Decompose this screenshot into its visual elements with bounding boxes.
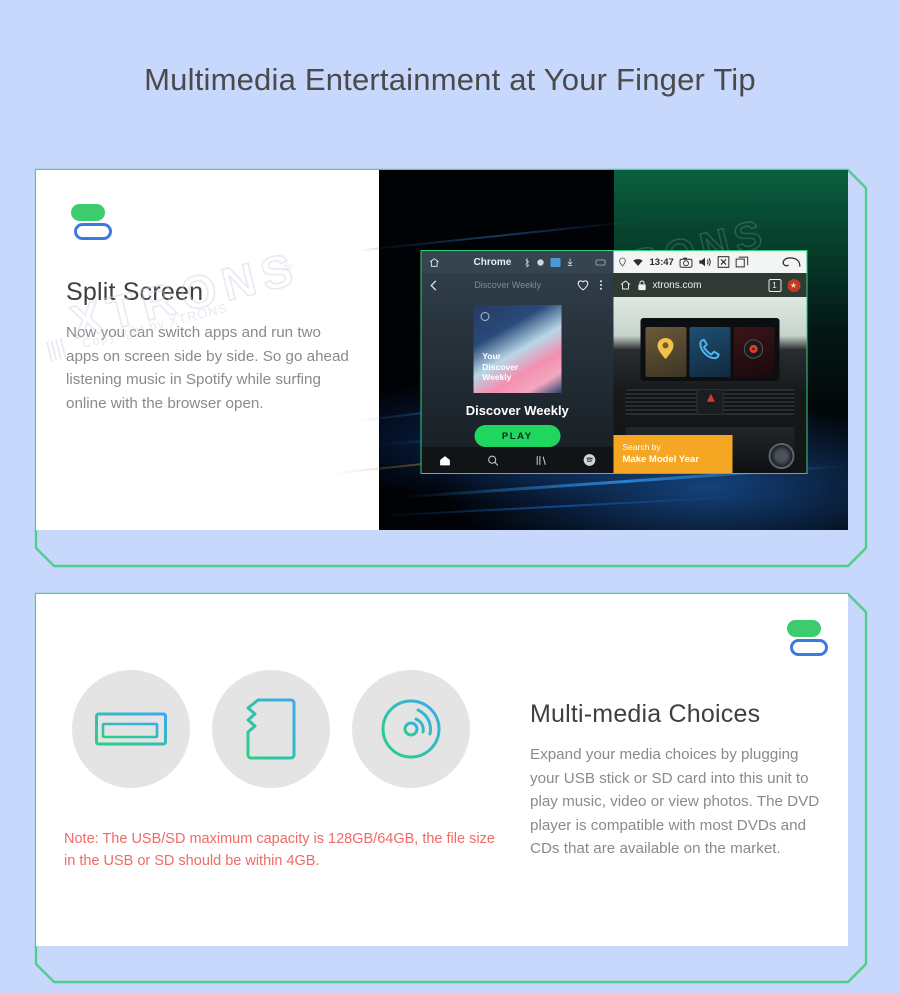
card-body: Note: The USB/SD maximum capacity is 128…	[36, 594, 848, 946]
spotify-breadcrumb: Discover Weekly	[439, 280, 577, 290]
card-media-panel: XTRONS Chrome	[379, 170, 848, 530]
spotify-bottom-nav	[421, 447, 614, 473]
status-time: 13:47	[650, 257, 674, 268]
url-text: xtrons.com	[653, 280, 763, 291]
phone-icon	[699, 338, 721, 360]
home-icon[interactable]	[620, 279, 632, 291]
browser-pane: 13:47 xtrons.com 1 ★	[614, 251, 807, 473]
spotify-logo-icon[interactable]	[582, 453, 596, 467]
banner-line-1: Search by	[623, 442, 725, 452]
battery-icon	[596, 259, 607, 266]
split-screen-icon	[782, 620, 824, 660]
track-title: Discover Weekly	[421, 403, 614, 418]
card-text-panel: XTRONS ® Copyright by XTRONS |||| Split …	[36, 170, 379, 530]
album-art: Your Discover Weekly	[473, 305, 561, 393]
disc-icon-circle	[352, 670, 470, 788]
sd-status-icon	[550, 258, 560, 267]
media-icons-panel: Note: The USB/SD maximum capacity is 128…	[36, 594, 506, 946]
usb-icon-circle	[72, 670, 190, 788]
split-screen-icon-bottom-pane	[74, 223, 112, 240]
watermark-registered-icon: ®	[283, 261, 294, 275]
head-unit-screenshot: Chrome Discover Weekly	[420, 250, 807, 474]
browser-url-bar[interactable]: xtrons.com 1 ★	[614, 273, 807, 297]
card-body: XTRONS ® Copyright by XTRONS |||| Split …	[36, 170, 848, 530]
split-screen-icon	[66, 204, 108, 244]
home-icon[interactable]	[438, 454, 451, 467]
back-chevron-icon[interactable]	[428, 280, 439, 291]
bluetooth-icon	[523, 257, 530, 268]
search-icon[interactable]	[486, 454, 499, 467]
shield-icon	[536, 258, 544, 267]
volume-icon[interactable]	[699, 256, 712, 268]
sd-card-icon	[246, 698, 296, 760]
card-description: Now you can switch apps and run two apps…	[66, 321, 349, 415]
wifi-icon	[633, 258, 644, 267]
bookmark-badge-icon[interactable]: ★	[787, 279, 800, 292]
browser-status-bar: 13:47	[614, 251, 807, 273]
back-icon[interactable]	[781, 256, 801, 268]
close-box-icon[interactable]	[718, 256, 730, 268]
album-art-badge-icon	[480, 312, 489, 321]
sd-card-icon-circle	[212, 670, 330, 788]
page-title: Multimedia Entertainment at Your Finger …	[0, 0, 900, 98]
watermark-bars-icon: ||||	[43, 334, 68, 364]
split-screen-icon-top-pane	[71, 204, 105, 221]
music-tile	[733, 327, 774, 377]
card-text-panel: Multi-media Choices Expand your media ch…	[506, 594, 848, 946]
phone-tile	[689, 327, 730, 377]
navigation-tile	[645, 327, 686, 377]
library-icon[interactable]	[534, 454, 547, 467]
split-screen-icon-top-pane	[787, 620, 821, 637]
home-icon[interactable]	[428, 256, 440, 269]
lock-icon	[638, 280, 647, 291]
play-button[interactable]: PLAY	[474, 425, 560, 447]
heart-icon[interactable]	[577, 279, 590, 291]
browser-page-photo: Search by Make Model Year	[614, 297, 807, 473]
disc-icon	[380, 698, 442, 760]
vinyl-icon	[743, 338, 765, 360]
usb-icon	[94, 706, 168, 752]
location-icon	[619, 257, 627, 267]
card-title: Split Screen	[66, 278, 349, 307]
card-description: Expand your media choices by plugging yo…	[530, 743, 824, 861]
download-icon	[566, 257, 573, 267]
camera-icon[interactable]	[680, 257, 693, 268]
capacity-note: Note: The USB/SD maximum capacity is 128…	[64, 828, 506, 873]
search-by-banner[interactable]: Search by Make Model Year	[614, 435, 733, 473]
spotify-pane: Chrome Discover Weekly	[421, 251, 614, 473]
card-title: Multi-media Choices	[530, 700, 824, 729]
more-options-icon[interactable]	[596, 279, 607, 291]
map-pin-icon	[656, 337, 676, 361]
recents-icon[interactable]	[736, 256, 749, 268]
spotify-top-bar: Discover Weekly	[421, 273, 614, 297]
spotify-status-title: Chrome	[474, 257, 512, 268]
media-icons-row	[36, 670, 506, 788]
split-screen-icon-bottom-pane	[790, 639, 828, 656]
spotify-status-bar: Chrome	[421, 251, 614, 273]
car-display-screen	[640, 318, 779, 381]
album-art-text: Your Discover Weekly	[482, 351, 518, 383]
banner-line-2: Make Model Year	[623, 454, 725, 465]
tab-count-badge[interactable]: 1	[768, 279, 781, 292]
card-multimedia-choices: Note: The USB/SD maximum capacity is 128…	[0, 588, 900, 988]
card-split-screen: XTRONS ® Copyright by XTRONS |||| Split …	[0, 160, 900, 570]
